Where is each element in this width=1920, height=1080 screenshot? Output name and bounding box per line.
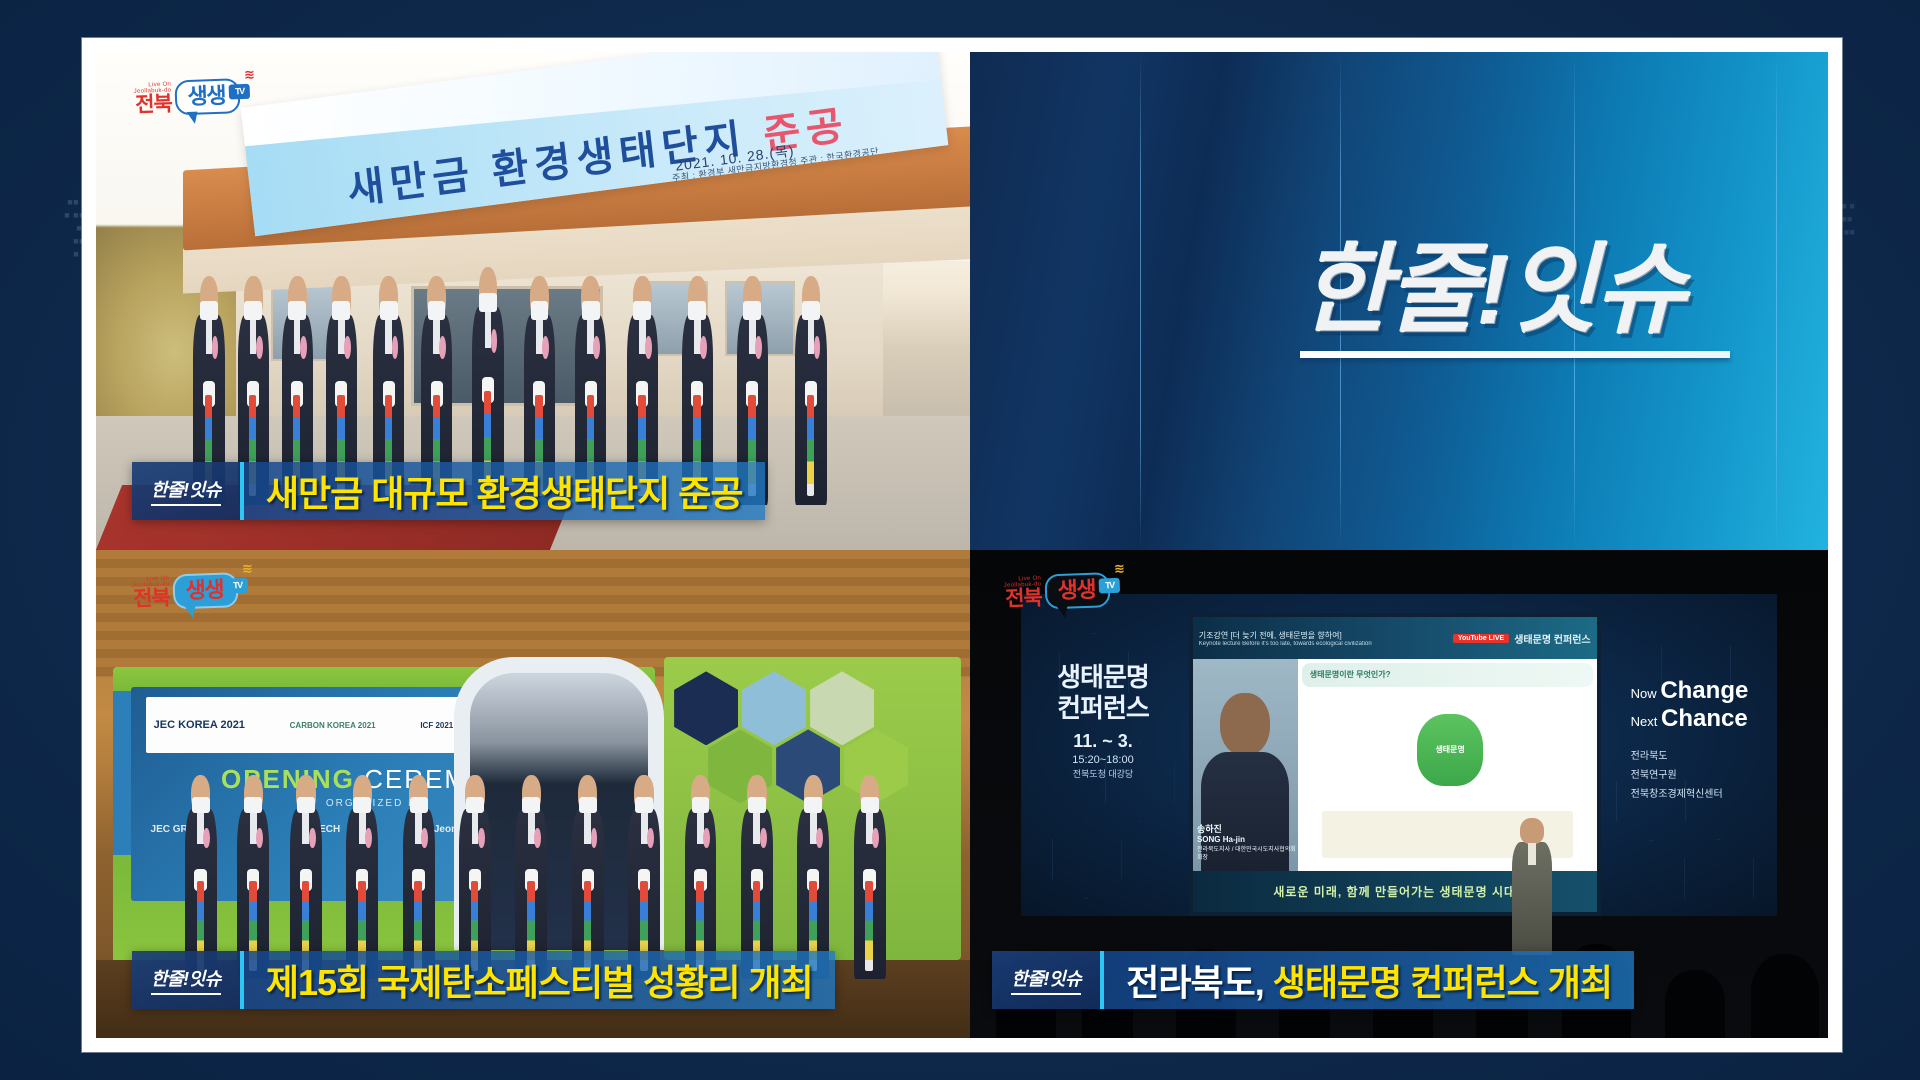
- slogan-next: Next: [1631, 714, 1658, 729]
- title-underline: [1300, 351, 1730, 358]
- caption-headline-white: 전라북도,: [1126, 962, 1263, 1003]
- logo-sengseng-text: 생생: [185, 577, 223, 603]
- logo-tv-badge: TV: [227, 578, 249, 594]
- jeonbuk-sengseng-tv-logo: Live On Jeollabuk-do 전북 생생 TV ≋: [1003, 572, 1110, 611]
- partner-logo: 전북창조경제혁신센터: [1631, 785, 1794, 804]
- wifi-icon: ≋: [1114, 562, 1124, 575]
- jeonbuk-sengseng-tv-logo: Live On Jeollabuk-do 전북 생생 TV ≋: [131, 572, 238, 611]
- slide-diagram-blob: 생태문명: [1417, 714, 1483, 786]
- caption-bar-top-left: 한줄!잇슈 새만금 대규모 환경생태단지 준공: [132, 462, 765, 520]
- caption-program-badge: 한줄!잇슈: [132, 951, 244, 1009]
- logo-sengseng-text: 생생: [1057, 577, 1095, 603]
- gradient-strip: [1140, 52, 1141, 550]
- screen-header-left: 기조강연 [더 늦기 전에, 생태문명을 향하여] Keynote lectur…: [1199, 630, 1372, 647]
- partner-logo-list: 전라북도 전북연구원 전북창조경제혁신센터: [1631, 747, 1794, 804]
- slogan-line-2: Next Chance: [1631, 705, 1794, 733]
- logo-tv-badge: TV: [229, 84, 251, 100]
- conference-date: 11. ~ 3.: [1039, 731, 1168, 753]
- slogan-board-right: Now Change Next Chance 전라북도 전북연구원 전북창조경제…: [1631, 677, 1794, 862]
- title-block: 한줄!잇슈: [1300, 238, 1730, 358]
- logo-sengseng-text: 생생: [187, 83, 225, 109]
- logo-speech-bubble: 생생 TV ≋: [172, 572, 239, 609]
- screen-header-right-group: YouTube LIVE 생태문명 컨퍼런스: [1453, 631, 1591, 646]
- caption-program-badge: 한줄!잇슈: [132, 462, 244, 520]
- video-frame: 새만금 환경생태단지 준공 2021. 10. 28.(목) 주최 : 환경부 …: [82, 38, 1842, 1052]
- logo-jeonbuk-text: 전북: [133, 588, 170, 610]
- audience-head: [1665, 970, 1725, 1039]
- speaker-name-english: SONG Ha-jin: [1197, 835, 1298, 846]
- screen-header-conference-name: 생태문명 컨퍼런스: [1514, 631, 1590, 646]
- speaker-caption: 송하진 SONG Ha-jin 전라북도지사 / 대한민국시도지사협의회 회장: [1197, 823, 1298, 862]
- hexagon-tile: [742, 671, 806, 745]
- caption-badge-label: 한줄!잇슈: [1011, 965, 1081, 995]
- partner-logo: 전라북도: [1631, 747, 1794, 766]
- screen-header-korean: 기조강연 [더 늦기 전에, 생태문명을 향하여]: [1199, 630, 1372, 641]
- caption-bar-bottom-right: 한줄!잇슈 전라북도, 생태문명 컨퍼런스 개최: [992, 951, 1634, 1009]
- slide-title-bar: 생태문명이란 무엇인가?: [1302, 663, 1593, 687]
- caption-program-badge: 한줄!잇슈: [992, 951, 1104, 1009]
- slogan-line-1: Now Change: [1631, 677, 1794, 705]
- logo-speech-bubble: 생생 TV ≋: [174, 78, 241, 115]
- conference-info-board-left: 생태문명 컨퍼런스 11. ~ 3. 15:20~18:00 전북도청 대강당: [1039, 662, 1168, 857]
- caption-headline: 전라북도, 생태문명 컨퍼런스 개최: [1126, 954, 1612, 1006]
- conference-title-line1: 생태문명: [1039, 662, 1168, 693]
- quad-panel-grid: 새만금 환경생태단지 준공 2021. 10. 28.(목) 주최 : 환경부 …: [96, 52, 1828, 1038]
- ribbon-cutting-attendees: [183, 775, 935, 980]
- caption-body: 제15회 국제탄소페스티벌 성황리 개최: [244, 951, 835, 1009]
- caption-headline: 새만금 대규모 환경생태단지 준공: [266, 465, 743, 517]
- hexagon-tile: [674, 671, 738, 745]
- screen-header-english: Keynote lecture Before it's too late, to…: [1199, 641, 1372, 647]
- panel-program-title-card[interactable]: 한줄!잇슈: [970, 52, 1828, 550]
- hexagon-tile: [810, 671, 874, 745]
- caption-headline-yellow: 생태문명 컨퍼런스 개최: [1273, 962, 1612, 1003]
- speaker-portrait-box: 송하진 SONG Ha-jin 전라북도지사 / 대한민국시도지사협의회 회장: [1193, 659, 1298, 871]
- caption-bar-bottom-left: 한줄!잇슈 제15회 국제탄소페스티벌 성황리 개최: [132, 951, 835, 1009]
- conference-time: 15:20~18:00: [1039, 754, 1168, 767]
- wifi-icon: ≋: [244, 68, 254, 81]
- logo-prefix: Live On Jeollabuk-do 전북: [131, 576, 170, 610]
- panel-saemangeum-completion[interactable]: 새만금 환경생태단지 준공 2021. 10. 28.(목) 주최 : 환경부 …: [96, 52, 970, 550]
- logo-tv-badge: TV: [1099, 578, 1121, 594]
- poster-header-center: CARBON KOREA 2021: [290, 721, 376, 730]
- speaker-face: [1220, 693, 1270, 757]
- panel-eco-conference[interactable]: 생태문명 컨퍼런스 11. ~ 3. 15:20~18:00 전북도청 대강당 …: [970, 550, 1828, 1038]
- caption-badge-label: 한줄!잇슈: [151, 476, 221, 506]
- panel-carbon-festival[interactable]: JEC KOREA 2021 CARBON KOREA 2021 ICF 202…: [96, 550, 970, 1038]
- caption-headline: 제15회 국제탄소페스티벌 성황리 개최: [266, 954, 813, 1006]
- conference-title-line2: 컨퍼런스: [1039, 693, 1168, 724]
- caption-body: 전라북도, 생태문명 컨퍼런스 개최: [1104, 951, 1634, 1009]
- logo-jeonbuk-text: 전북: [1005, 588, 1042, 610]
- screen-header: 기조강연 [더 늦기 전에, 생태문명을 향하여] Keynote lectur…: [1193, 617, 1597, 658]
- background-decoration-right: ■■ ■ ■■■ ■ ■■: [1836, 200, 1908, 239]
- youtube-live-badge: YouTube LIVE: [1453, 634, 1509, 643]
- poster-header-left: JEC KOREA 2021: [154, 719, 245, 731]
- conference-venue: 전북도청 대강당: [1039, 769, 1168, 780]
- speaker-role: 전라북도지사 / 대한민국시도지사협의회 회장: [1197, 846, 1298, 862]
- logo-speech-bubble: 생생 TV ≋: [1044, 572, 1111, 609]
- speaker-name-korean: 송하진: [1197, 823, 1298, 835]
- slogan-now: Now: [1631, 686, 1657, 701]
- jeonbuk-sengseng-tv-logo: Live On Jeollabuk-do 전북 생생 TV ≋: [133, 78, 240, 117]
- partner-logo: 전북연구원: [1631, 766, 1794, 785]
- program-title: 한줄!잇슈: [1300, 238, 1730, 341]
- logo-jeonbuk-text: 전북: [135, 94, 172, 116]
- wifi-icon: ≋: [242, 562, 252, 575]
- logo-prefix: Live On Jeollabuk-do 전북: [1003, 576, 1042, 610]
- audience-head: [1751, 954, 1820, 1038]
- slogan-change: Change: [1660, 677, 1748, 704]
- gradient-strip: [1776, 52, 1777, 550]
- logo-prefix: Live On Jeollabuk-do 전북: [133, 82, 172, 116]
- slogan-chance: Chance: [1661, 705, 1748, 732]
- caption-body: 새만금 대규모 환경생태단지 준공: [244, 462, 765, 520]
- caption-badge-label: 한줄!잇슈: [151, 965, 221, 995]
